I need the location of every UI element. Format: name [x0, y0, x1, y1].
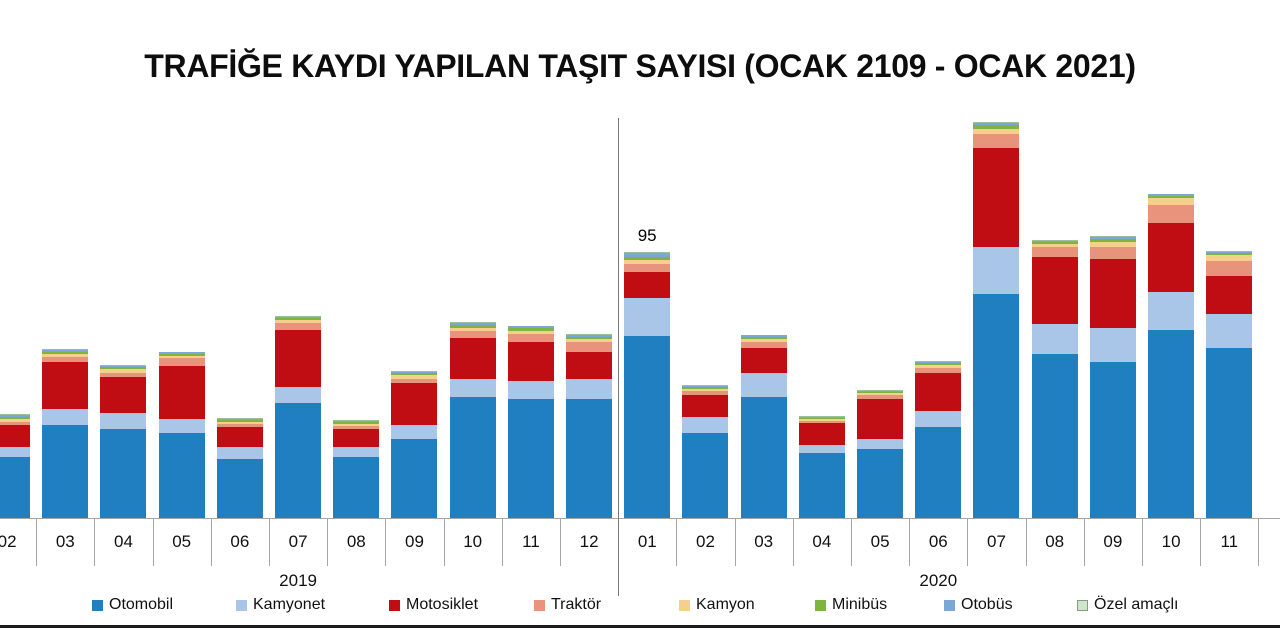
x-tick-2020-04: 04	[793, 518, 851, 566]
legend-item-zelamal[interactable]: Özel amaçlı	[1077, 596, 1178, 614]
plot-area: 95	[0, 110, 1280, 518]
segment-motosiklet	[799, 423, 845, 445]
x-tick-2020-08: 08	[1026, 518, 1084, 566]
segment-traktr	[508, 334, 554, 342]
segment-otomobil	[1032, 354, 1078, 518]
segment-traktr	[566, 342, 612, 352]
tick-separator	[1084, 519, 1085, 566]
segment-kamyonet	[0, 447, 30, 457]
segment-traktr	[973, 134, 1019, 148]
x-tick-2019-11: 11	[502, 518, 560, 566]
segment-traktr	[1206, 261, 1252, 277]
segment-motosiklet	[333, 429, 379, 447]
segment-traktr	[1090, 247, 1136, 259]
year-separator-upper	[618, 118, 619, 596]
legend-item-motosiklet[interactable]: Motosiklet	[389, 596, 478, 614]
segment-motosiklet	[391, 383, 437, 425]
tick-separator	[327, 519, 328, 566]
segment-otomobil	[915, 427, 961, 518]
segment-kamyonet	[1148, 292, 1194, 330]
legend-label: Kamyonet	[253, 596, 325, 614]
segment-motosiklet	[682, 395, 728, 417]
segment-motosiklet	[1090, 259, 1136, 328]
segment-traktr	[1148, 205, 1194, 223]
segment-kamyonet	[450, 379, 496, 397]
bar-2019-07[interactable]	[275, 316, 321, 518]
segment-otomobil	[624, 336, 670, 518]
tick-separator	[36, 519, 37, 566]
x-tick-2020-09: 09	[1084, 518, 1142, 566]
segment-kamyon	[1148, 198, 1194, 205]
legend-label: Özel amaçlı	[1094, 596, 1178, 614]
x-tick-2020-06: 06	[909, 518, 967, 566]
segment-traktr	[275, 323, 321, 330]
segment-otomobil	[1148, 330, 1194, 518]
segment-motosiklet	[973, 148, 1019, 247]
legend-swatch-icon	[92, 600, 103, 611]
segment-otomobil	[42, 425, 88, 518]
segment-motosiklet	[624, 272, 670, 298]
segment-otomobil	[799, 453, 845, 518]
bar-2019-09[interactable]	[391, 371, 437, 518]
segment-kamyonet	[391, 425, 437, 439]
bar-2020-11[interactable]	[1206, 251, 1252, 518]
segment-motosiklet	[1148, 223, 1194, 292]
segment-otomobil	[1090, 362, 1136, 518]
legend-label: Kamyon	[696, 596, 755, 614]
x-tick-2019-04: 04	[94, 518, 152, 566]
segment-motosiklet	[42, 362, 88, 410]
x-tick-2020-11: 11	[1200, 518, 1258, 566]
segment-motosiklet	[1032, 257, 1078, 324]
tick-separator	[676, 519, 677, 566]
legend-item-otomobil[interactable]: Otomobil	[92, 596, 173, 614]
bar-2020-06[interactable]	[915, 361, 961, 518]
segment-otomobil	[973, 294, 1019, 518]
segment-otomobil	[217, 459, 263, 518]
bar-2020-03[interactable]	[741, 335, 787, 518]
bar-2019-05[interactable]	[159, 352, 205, 518]
segment-otomobil	[275, 403, 321, 518]
segment-kamyonet	[275, 387, 321, 403]
segment-kamyonet	[799, 445, 845, 453]
x-tick-2020-02: 02	[676, 518, 734, 566]
segment-kamyonet	[508, 381, 554, 399]
tick-separator	[385, 519, 386, 566]
segment-motosiklet	[275, 330, 321, 387]
tick-separator	[1258, 519, 1259, 566]
segment-traktr	[450, 331, 496, 338]
segment-motosiklet	[450, 338, 496, 380]
segment-motosiklet	[217, 427, 263, 447]
bar-2020-09[interactable]	[1090, 236, 1136, 518]
tick-separator	[502, 519, 503, 566]
x-tick-2019-03: 03	[36, 518, 94, 566]
segment-kamyonet	[100, 413, 146, 429]
legend-item-kamyonet[interactable]: Kamyonet	[236, 596, 325, 614]
tick-separator	[1142, 519, 1143, 566]
segment-motosiklet	[0, 425, 30, 447]
x-tick-2020-07: 07	[967, 518, 1025, 566]
segment-motosiklet	[915, 373, 961, 411]
tick-separator	[94, 519, 95, 566]
segment-motosiklet	[159, 366, 205, 419]
legend-item-otobs[interactable]: Otobüs	[944, 596, 1013, 614]
bar-2020-02[interactable]	[682, 385, 728, 518]
legend-swatch-icon	[236, 600, 247, 611]
chart-root: TRAFİĞE KAYDI YAPILAN TAŞIT SAYISI (OCAK…	[0, 0, 1280, 640]
segment-otomobil	[450, 397, 496, 518]
segment-kamyonet	[915, 411, 961, 427]
segment-kamyonet	[682, 417, 728, 433]
tick-separator	[444, 519, 445, 566]
segment-otomobil	[741, 397, 787, 518]
segment-kamyonet	[159, 419, 205, 433]
segment-motosiklet	[1206, 276, 1252, 314]
segment-kamyonet	[1032, 324, 1078, 354]
segment-otomobil	[508, 399, 554, 518]
tick-separator	[909, 519, 910, 566]
x-tick-2019-02: 02	[0, 518, 36, 566]
tick-separator	[1026, 519, 1027, 566]
bar-2019-04[interactable]	[100, 365, 146, 518]
bar-2020-01[interactable]	[624, 252, 670, 518]
legend-swatch-icon	[389, 600, 400, 611]
tick-separator	[735, 519, 736, 566]
legend-label: Motosiklet	[406, 596, 478, 614]
chart-legend: OtomobilKamyonetMotosikletTraktörKamyonM…	[0, 592, 1280, 618]
tick-separator	[1200, 519, 1201, 566]
segment-kamyonet	[741, 373, 787, 397]
segment-otomobil	[0, 457, 30, 518]
segment-otomobil	[1206, 348, 1252, 518]
legend-swatch-icon	[815, 600, 826, 611]
segment-traktr	[1032, 247, 1078, 257]
segment-motosiklet	[857, 399, 903, 439]
segment-motosiklet	[508, 342, 554, 382]
legend-swatch-icon	[1077, 600, 1088, 611]
legend-item-kamyon[interactable]: Kamyon	[679, 596, 755, 614]
segment-traktr	[159, 358, 205, 366]
bar-2020-07[interactable]	[973, 122, 1019, 518]
segment-kamyonet	[333, 447, 379, 457]
segment-otomobil	[159, 433, 205, 518]
x-tick-2019-10: 10	[444, 518, 502, 566]
legend-label: Traktör	[551, 596, 601, 614]
x-tick-2020-10: 10	[1142, 518, 1200, 566]
segment-motosiklet	[741, 348, 787, 374]
segment-kamyonet	[217, 447, 263, 459]
bar-2019-11[interactable]	[508, 326, 554, 518]
segment-kamyonet	[566, 379, 612, 399]
x-tick-2019-05: 05	[153, 518, 211, 566]
tick-separator	[153, 519, 154, 566]
legend-swatch-icon	[679, 600, 690, 611]
x-tick-2019-08: 08	[327, 518, 385, 566]
x-tick-2019-09: 09	[385, 518, 443, 566]
tick-separator	[967, 519, 968, 566]
bar-2020-05[interactable]	[857, 390, 903, 518]
x-tick-2019-06: 06	[211, 518, 269, 566]
tick-separator	[269, 519, 270, 566]
legend-item-traktr[interactable]: Traktör	[534, 596, 601, 614]
x-tick-2019-07: 07	[269, 518, 327, 566]
x-tick-2019-12: 12	[560, 518, 618, 566]
segment-otomobil	[566, 399, 612, 518]
segment-otomobil	[100, 429, 146, 518]
legend-label: Otomobil	[109, 596, 173, 614]
bar-2019-12[interactable]	[566, 334, 612, 518]
x-tick-2020-05: 05	[851, 518, 909, 566]
tick-separator	[560, 519, 561, 566]
bar-2019-10[interactable]	[450, 322, 496, 518]
legend-label: Otobüs	[961, 596, 1013, 614]
bar-2020-08[interactable]	[1032, 240, 1078, 518]
x-tick-2020-01: 01	[618, 518, 676, 566]
bar-2020-10[interactable]	[1148, 194, 1194, 518]
segment-otomobil	[682, 433, 728, 518]
segment-otomobil	[857, 449, 903, 518]
bar-2020-04[interactable]	[799, 416, 845, 518]
segment-kamyonet	[857, 439, 903, 449]
segment-otomobil	[333, 457, 379, 518]
legend-swatch-icon	[534, 600, 545, 611]
segment-motosiklet	[100, 377, 146, 413]
segment-kamyonet	[973, 247, 1019, 295]
legend-swatch-icon	[944, 600, 955, 611]
bar-data-label: 95	[624, 226, 670, 246]
segment-kamyonet	[1090, 328, 1136, 362]
segment-traktr	[624, 264, 670, 273]
segment-kamyonet	[42, 409, 88, 425]
bar-2019-08[interactable]	[333, 420, 379, 518]
tick-separator	[851, 519, 852, 566]
segment-motosiklet	[566, 352, 612, 380]
x-tick-2020-03: 03	[735, 518, 793, 566]
bar-2019-03[interactable]	[42, 349, 88, 518]
bar-2019-02[interactable]	[0, 414, 30, 518]
bottom-rule	[0, 625, 1280, 628]
chart-title: TRAFİĞE KAYDI YAPILAN TAŞIT SAYISI (OCAK…	[0, 48, 1280, 85]
bar-2019-06[interactable]	[217, 418, 263, 518]
segment-kamyonet	[624, 298, 670, 336]
segment-kamyonet	[1206, 314, 1252, 348]
segment-otomobil	[391, 439, 437, 518]
x-axis: 0203040506070809101112010203040506070809…	[0, 518, 1280, 566]
tick-separator	[211, 519, 212, 566]
legend-label: Minibüs	[832, 596, 887, 614]
tick-separator	[793, 519, 794, 566]
legend-item-minibs[interactable]: Minibüs	[815, 596, 887, 614]
